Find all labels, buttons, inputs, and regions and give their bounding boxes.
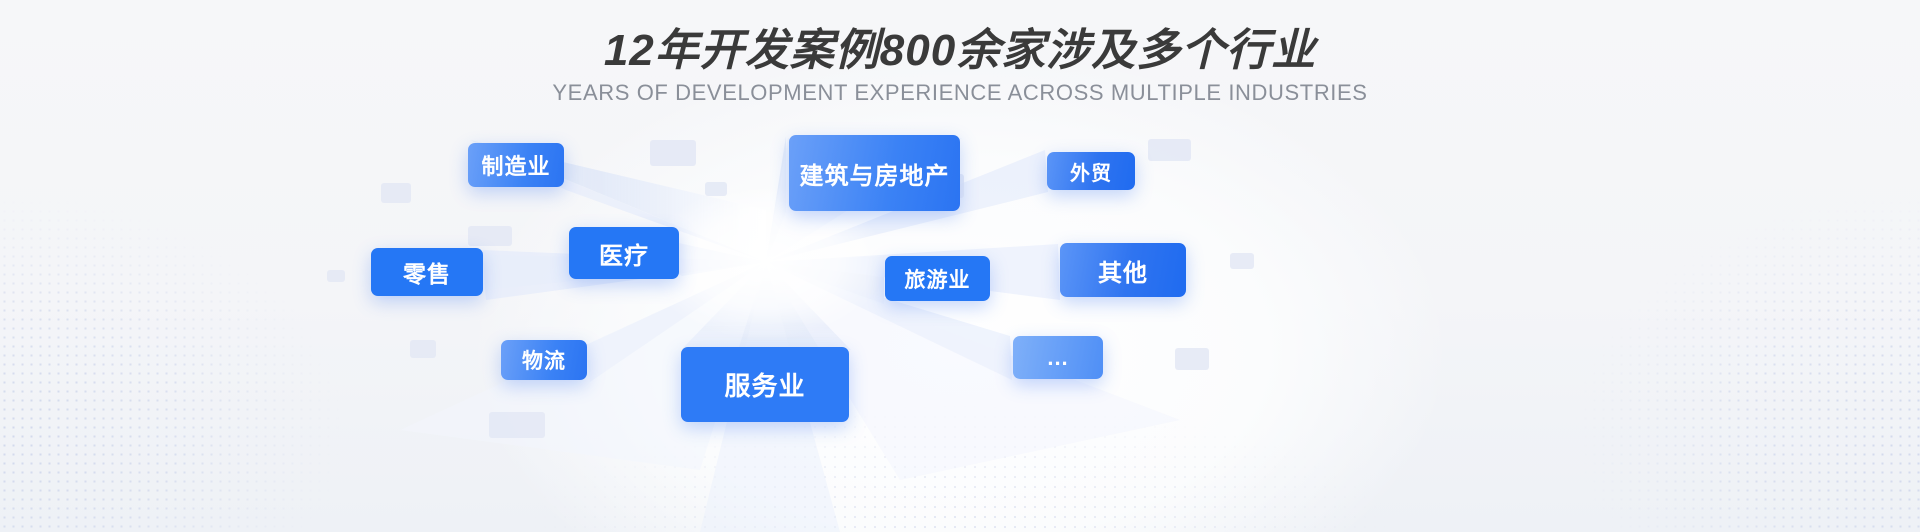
industry-tag-label: 其他	[1098, 253, 1148, 288]
decorative-square	[489, 412, 545, 438]
page-subtitle: YEARS OF DEVELOPMENT EXPERIENCE ACROSS M…	[0, 80, 1920, 106]
industry-tag[interactable]: 医疗	[569, 227, 679, 279]
decorative-square	[381, 183, 411, 203]
industry-tag-label: 服务业	[724, 366, 805, 403]
decorative-square	[705, 182, 727, 196]
decorative-square	[1148, 139, 1191, 161]
decorative-square	[468, 226, 512, 246]
industry-tag-label: 外贸	[1070, 157, 1112, 186]
decorative-square	[1230, 253, 1254, 269]
industry-tag-label: 医疗	[599, 236, 649, 271]
industry-showcase-banner: 12年开发案例800余家涉及多个行业 YEARS OF DEVELOPMENT …	[0, 0, 1920, 532]
industry-tag-label: ...	[1047, 345, 1068, 371]
industry-tag[interactable]: 物流	[501, 340, 587, 380]
decorative-square	[327, 270, 345, 282]
industry-tag[interactable]: 制造业	[468, 143, 564, 187]
decorative-square	[650, 140, 696, 166]
industry-tag-label: 旅游业	[905, 264, 971, 294]
page-title: 12年开发案例800余家涉及多个行业	[0, 14, 1920, 78]
industry-tag[interactable]: 旅游业	[885, 256, 990, 301]
industry-tag[interactable]: 服务业	[681, 347, 849, 422]
industry-tag-label: 建筑与房地产	[800, 156, 950, 191]
industry-tag[interactable]: 外贸	[1047, 152, 1135, 190]
industry-tag-label: 物流	[522, 345, 566, 375]
industry-tag[interactable]: ...	[1013, 336, 1103, 379]
industry-tag[interactable]: 零售	[371, 248, 483, 296]
industry-tag[interactable]: 建筑与房地产	[789, 135, 960, 211]
industry-tag-label: 制造业	[481, 149, 550, 181]
dot-texture-center	[430, 292, 1490, 532]
industry-tag[interactable]: 其他	[1060, 243, 1186, 297]
decorative-square	[1175, 348, 1209, 370]
decorative-square	[410, 340, 436, 358]
industry-tag-label: 零售	[403, 255, 451, 289]
